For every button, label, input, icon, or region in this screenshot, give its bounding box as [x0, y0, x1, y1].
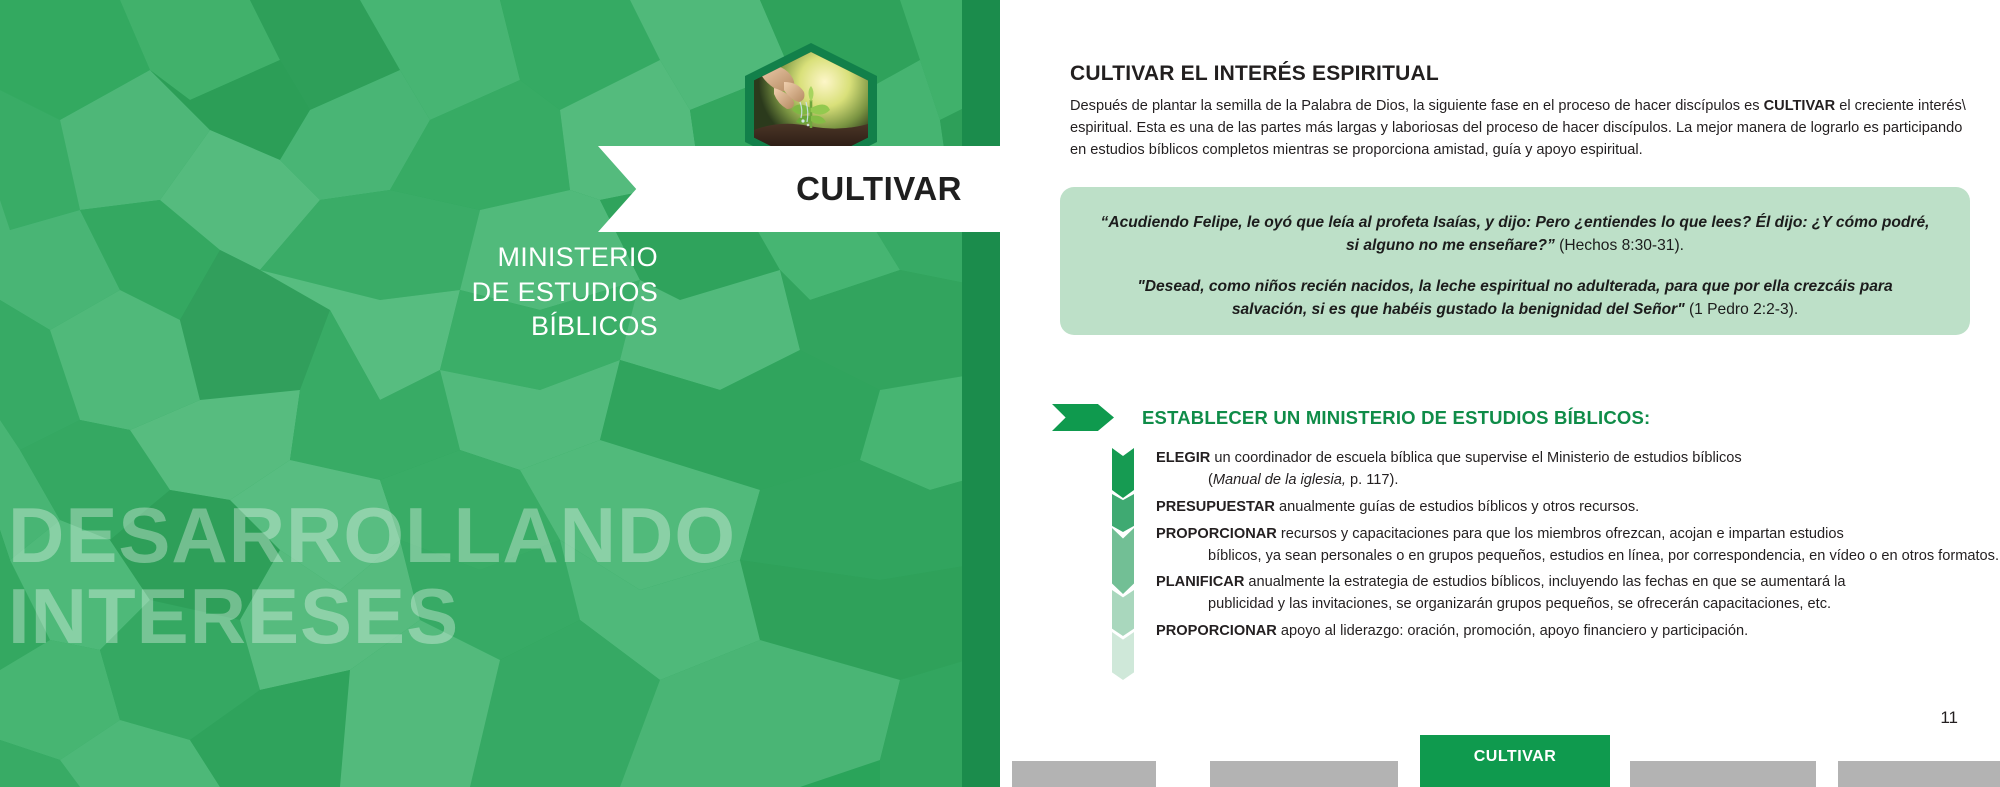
tab-2[interactable] — [1210, 761, 1398, 787]
list-item-lead: ELEGIR — [1156, 450, 1210, 466]
quote-1-reference: (Hechos 8:30-31). — [1555, 237, 1684, 254]
action-list-items: ELEGIR un coordinador de escuela bíblica… — [1156, 448, 2000, 680]
list-item: PROPORCIONAR apoyo al liderazgo: oración… — [1156, 621, 2000, 643]
page-title: CULTIVAR EL INTERÉS ESPIRITUAL — [1070, 62, 1439, 86]
tab-cultivar-label: CULTIVAR — [1420, 748, 1610, 766]
tab-4[interactable] — [1630, 761, 1816, 787]
list-item: PLANIFICAR anualmente la estrategia de e… — [1156, 572, 2000, 616]
cultivar-ribbon-banner: CULTIVAR — [598, 146, 1000, 232]
intro-part-1: Después de plantar la semilla de la Pala… — [1070, 98, 1764, 114]
list-item-lead: PROPORCIONAR — [1156, 623, 1277, 639]
list-item-text: un coordinador de escuela bíblica que su… — [1210, 450, 1741, 466]
section-header-row: ESTABLECER UN MINISTERIO DE ESTUDIOS BÍB… — [1052, 404, 1650, 431]
intro-paragraph: Después de plantar la semilla de la Pala… — [1070, 95, 1968, 162]
list-item-text: apoyo al liderazgo: oración, promoción, … — [1277, 623, 1748, 639]
list-item-lead: PROPORCIONAR — [1156, 526, 1277, 542]
list-item-text: recursos y capacitaciones para que los m… — [1277, 526, 1844, 542]
right-content-panel: CULTIVAR EL INTERÉS ESPIRITUAL Después d… — [1000, 0, 2000, 787]
subtitle-line-1: MINISTERIO — [472, 240, 658, 275]
section-title: ESTABLECER UN MINISTERIO DE ESTUDIOS BÍB… — [1142, 407, 1650, 429]
intro-bold-word: CULTIVAR — [1764, 98, 1836, 114]
tab-1[interactable] — [1012, 761, 1156, 787]
chevron-segment-3 — [1112, 528, 1134, 594]
left-cover-panel: DESARROLLANDO INTERESES — [0, 0, 1000, 787]
chevron-segment-1 — [1112, 448, 1134, 498]
action-list: ELEGIR un coordinador de escuela bíblica… — [1112, 448, 2000, 680]
bottom-tab-bar: CULTIVAR — [1000, 761, 2000, 787]
pennant-arrow-icon — [1052, 404, 1114, 431]
continuation-rest: p. 117). — [1346, 472, 1398, 488]
quote-1: “Acudiendo Felipe, le oyó que leía al pr… — [1100, 212, 1930, 257]
list-item: ELEGIR un coordinador de escuela bíblica… — [1156, 448, 2000, 492]
quote-1-text: “Acudiendo Felipe, le oyó que leía al pr… — [1101, 214, 1930, 254]
tab-cultivar[interactable]: CULTIVAR — [1420, 735, 1610, 787]
subtitle-line-3: BÍBLICOS — [472, 309, 658, 344]
scripture-quote-box: “Acudiendo Felipe, le oyó que leía al pr… — [1060, 187, 1970, 335]
quote-2: "Desead, como niños recién nacidos, la l… — [1100, 276, 1930, 321]
list-item-text: anualmente guías de estudios bíblicos y … — [1275, 499, 1639, 515]
list-item-continuation: bíblicos, ya sean personales o en grupos… — [1156, 546, 2000, 568]
list-item-lead: PRESUPUESTAR — [1156, 499, 1275, 515]
ribbon-title: CULTIVAR — [796, 170, 962, 208]
chevron-segment-4 — [1112, 590, 1134, 636]
ministry-subtitle: MINISTERIO DE ESTUDIOS BÍBLICOS — [472, 240, 658, 344]
list-item: PROPORCIONAR recursos y capacitaciones p… — [1156, 524, 2000, 568]
page-root: DESARROLLANDO INTERESES — [0, 0, 2000, 787]
chevron-segment-2 — [1112, 494, 1134, 532]
dark-green-vertical-strip — [962, 0, 1000, 787]
continuation-italic: Manual de la iglesia, — [1213, 472, 1346, 488]
chevron-gradient-bar — [1112, 448, 1134, 680]
quote-2-reference: (1 Pedro 2:2-3). — [1685, 301, 1799, 318]
subtitle-line-2: DE ESTUDIOS — [472, 275, 658, 310]
list-item-text: anualmente la estrategia de estudios bíb… — [1244, 574, 1845, 590]
tab-5[interactable] — [1838, 761, 2000, 787]
page-number: 11 — [1940, 708, 1958, 728]
chevron-segment-5 — [1112, 632, 1134, 680]
list-item-lead: PLANIFICAR — [1156, 574, 1244, 590]
list-item-continuation: publicidad y las invitaciones, se organi… — [1156, 594, 2000, 616]
list-item-continuation: (Manual de la iglesia, p. 117). — [1156, 470, 2000, 492]
list-item: PRESUPUESTAR anualmente guías de estudio… — [1156, 497, 2000, 519]
